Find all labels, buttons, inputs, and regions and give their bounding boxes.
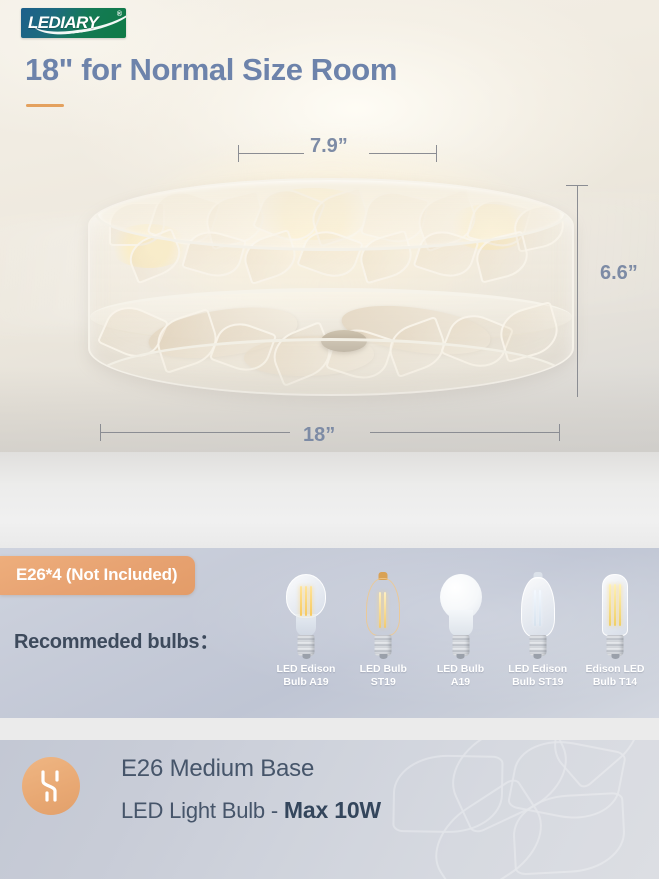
bulb-icon-clear-a19 xyxy=(282,572,330,658)
bulb-icon-amber-st19 xyxy=(359,572,407,658)
base-wattage-prefix: LED Light Bulb - xyxy=(121,798,284,823)
dim-bottom-cap-right xyxy=(559,424,560,441)
bulb-caption: LED Bulb A19 xyxy=(437,663,484,688)
dim-top-cap-right xyxy=(436,145,437,162)
section-divider-band xyxy=(0,452,659,548)
hero-section: LEDIARY ® 18" for Normal Size Room 7.9” … xyxy=(0,0,659,452)
base-section-top-strip xyxy=(0,718,659,740)
bulb-e26-base xyxy=(452,635,469,656)
status-badge-not-included: E26*4 (Not Included) xyxy=(0,556,195,595)
bulb-caption: LED Edison Bulb ST19 xyxy=(508,663,567,688)
bulb-e26-base xyxy=(375,635,392,656)
dim-bottom-line-left xyxy=(100,432,290,433)
base-wattage-label: LED Light Bulb - Max 10W xyxy=(121,797,381,824)
list-item: LED Edison Bulb A19 xyxy=(268,572,344,688)
dim-label-bottom-width: 18” xyxy=(303,424,335,447)
dim-height-line xyxy=(577,185,578,397)
list-item: LED Bulb ST19 xyxy=(345,572,421,688)
bulb-caption: Edison LED Bulb T14 xyxy=(586,663,645,688)
dim-top-line-left xyxy=(238,153,304,154)
base-wattage-value: Max 10W xyxy=(284,797,381,823)
bulb-icon-clear-st19 xyxy=(514,572,562,658)
product-image-ceiling-fan xyxy=(88,172,574,416)
bulb-e26-base xyxy=(298,635,315,656)
list-item: LED Edison Bulb ST19 xyxy=(500,572,576,688)
page-title: 18" for Normal Size Room xyxy=(25,52,397,88)
logo-wordmark: LEDIARY xyxy=(28,13,98,33)
fixture-top-ring xyxy=(95,178,567,251)
dim-top-line-right xyxy=(369,153,436,154)
bulb-icon-frosted-a19 xyxy=(437,572,485,658)
bulb-icon-tubular-t14 xyxy=(591,572,639,658)
filament-icon xyxy=(22,757,80,815)
list-item: Edison LED Bulb T14 xyxy=(577,572,653,688)
title-accent-rule xyxy=(26,104,64,107)
base-type-label: E26 Medium Base xyxy=(121,755,314,783)
bulb-e26-base xyxy=(529,635,546,656)
dim-label-height: 6.6” xyxy=(600,262,638,285)
dim-label-top-width: 7.9” xyxy=(310,135,348,158)
bulb-list: LED Edison Bulb A19 LED Bulb ST19 LED Bu… xyxy=(268,572,653,710)
bulb-caption: LED Edison Bulb A19 xyxy=(277,663,336,688)
registered-trademark-icon: ® xyxy=(117,11,122,18)
bulb-caption: LED Bulb ST19 xyxy=(360,663,407,688)
recommended-bulbs-label: Recommeded bulbs： xyxy=(14,625,219,654)
bulb-e26-base xyxy=(607,635,624,656)
brand-logo: LEDIARY ® xyxy=(21,8,126,38)
dim-bottom-line-right xyxy=(370,432,559,433)
fixture-drum-cage xyxy=(88,178,574,396)
list-item: LED Bulb A19 xyxy=(423,572,499,688)
fixture-watermark-image xyxy=(359,740,659,879)
